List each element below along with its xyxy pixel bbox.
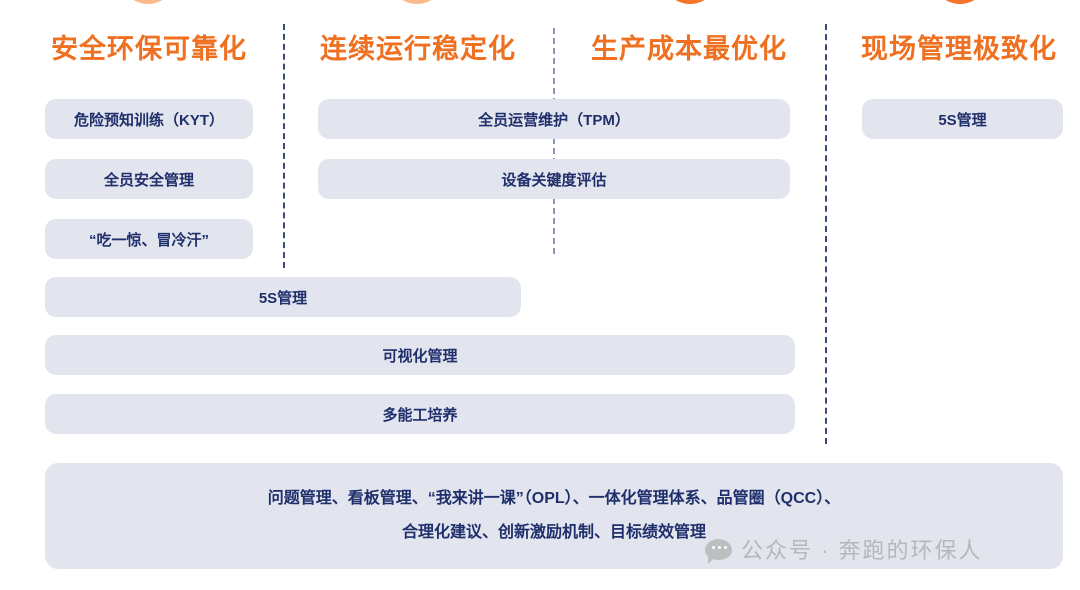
column-heading-continuity: 连续运行稳定化 [307, 27, 529, 66]
column-divider-1 [283, 24, 285, 268]
bar-safety-all[interactable]: 全员安全管理 [45, 159, 253, 199]
bar-equipment-criticality[interactable]: 设备关键度评估 [318, 159, 790, 199]
footer-line-2: 合理化建议、创新激励机制、目标绩效管理 [402, 516, 706, 550]
bar-tpm[interactable]: 全员运营维护（TPM） [318, 99, 790, 139]
column-marker-dot-1 [120, 0, 176, 4]
footer-initiatives-block[interactable]: 问题管理、看板管理、“我来讲一课”（OPL）、一体化管理体系、品管圈（QCC）、… [45, 463, 1063, 569]
column-heading-site: 现场管理极致化 [848, 27, 1070, 66]
infographic-canvas: 安全环保可靠化 连续运行稳定化 生产成本最优化 现场管理极致化 危险预知训练（K… [0, 0, 1080, 590]
column-marker-dot-3 [662, 0, 718, 4]
column-divider-3 [825, 24, 827, 444]
bar-5s-site[interactable]: 5S管理 [862, 99, 1063, 139]
bar-visual-management[interactable]: 可视化管理 [45, 335, 795, 375]
bar-shock-awareness[interactable]: “吃一惊、冒冷汗” [45, 219, 253, 259]
column-heading-cost: 生产成本最优化 [578, 27, 800, 66]
column-marker-dot-4 [932, 0, 988, 4]
bar-5s-wide[interactable]: 5S管理 [45, 277, 521, 317]
column-marker-dot-2 [389, 0, 445, 4]
column-divider-2 [553, 28, 555, 254]
column-heading-safety: 安全环保可靠化 [38, 27, 260, 66]
bar-kyt[interactable]: 危险预知训练（KYT） [45, 99, 253, 139]
bar-multiskill-training[interactable]: 多能工培养 [45, 394, 795, 434]
footer-line-1: 问题管理、看板管理、“我来讲一课”（OPL）、一体化管理体系、品管圈（QCC）、 [268, 482, 840, 516]
